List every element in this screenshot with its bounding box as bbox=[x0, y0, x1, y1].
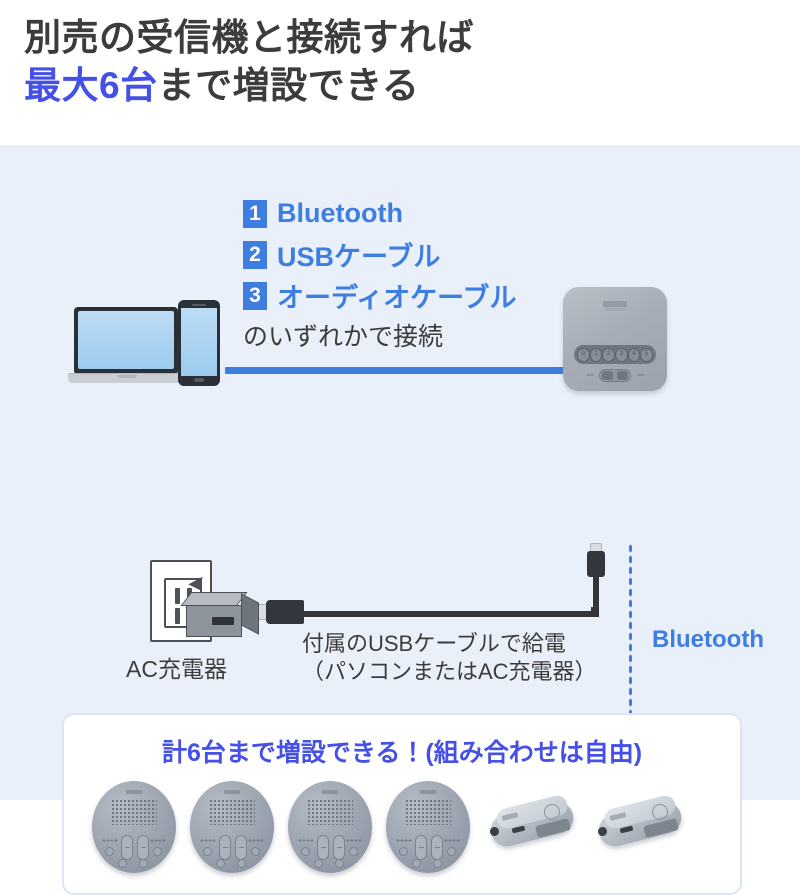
control-button-4 bbox=[335, 859, 344, 868]
speakerphone-logo-icon bbox=[126, 790, 142, 794]
speaker-grille-icon bbox=[111, 799, 157, 825]
control-button-1 bbox=[399, 847, 408, 856]
round-speakerphone-3 bbox=[288, 781, 372, 873]
led-dots-left bbox=[298, 839, 314, 842]
phone-home-button bbox=[194, 378, 204, 382]
led-dots-right bbox=[346, 839, 362, 842]
option-badge-1: 1 bbox=[243, 200, 267, 228]
control-button-1 bbox=[203, 847, 212, 856]
option-label-2: USBケーブル bbox=[277, 235, 440, 274]
title-line-1: 別売の受信機と接続すれば bbox=[24, 14, 784, 62]
laptop-notch bbox=[117, 375, 137, 378]
receiver-button-5: 5 bbox=[640, 348, 653, 362]
speaker-grille-icon bbox=[209, 799, 255, 825]
control-button-4 bbox=[237, 859, 246, 868]
clip-receiver-1 bbox=[486, 794, 578, 860]
round-speakerphone-1 bbox=[92, 781, 176, 873]
expansion-card-title: 計6台まで増設できる！(組み合わせは自由) bbox=[64, 733, 740, 769]
speakerphone-logo-icon bbox=[420, 790, 436, 794]
option-badge-2: 2 bbox=[243, 241, 267, 269]
control-button-2 bbox=[153, 847, 162, 856]
infographic-page: 別売の受信機と接続すれば 最大6台まで増設できる 1 Bluetooth 2 U… bbox=[0, 0, 800, 800]
control-button-3 bbox=[314, 859, 323, 868]
round-speakerphone-2 bbox=[190, 781, 274, 873]
receiver-body: 0 1 2 3 4 5 bbox=[563, 287, 667, 391]
phone-body bbox=[178, 300, 220, 386]
receiver-dash-right bbox=[637, 374, 644, 376]
control-button-1 bbox=[105, 847, 114, 856]
volume-down-button bbox=[235, 835, 247, 860]
ac-charger-label: AC充電器 bbox=[126, 650, 227, 684]
page-title: 別売の受信機と接続すれば 最大6台まで増設できる bbox=[24, 14, 784, 110]
laptop-icon bbox=[68, 307, 186, 389]
speakerphone-body bbox=[288, 781, 372, 873]
led-dots-right bbox=[150, 839, 166, 842]
expansion-device-row bbox=[78, 777, 726, 877]
led-dots-right bbox=[248, 839, 264, 842]
speaker-grille-icon bbox=[405, 799, 451, 825]
usb-c-shell bbox=[587, 551, 605, 577]
control-button-2 bbox=[251, 847, 260, 856]
title-line-2: 最大6台まで増設できる bbox=[24, 62, 784, 110]
option-label-1: Bluetooth bbox=[277, 198, 403, 229]
speakerphone-logo-icon bbox=[322, 790, 338, 794]
smartphone-icon bbox=[178, 300, 220, 386]
title-highlight: 最大6台 bbox=[24, 65, 158, 106]
receiver-dash-left bbox=[587, 374, 594, 376]
volume-up-button bbox=[219, 835, 231, 860]
led-dots-left bbox=[396, 839, 412, 842]
laptop-lid bbox=[74, 307, 178, 373]
clip-receiver-2 bbox=[594, 794, 686, 860]
receiver-button-strip: 0 1 2 3 4 5 bbox=[574, 345, 656, 364]
volume-up-button bbox=[121, 835, 133, 860]
ac-adapter-usb-port bbox=[212, 617, 234, 625]
control-button-4 bbox=[139, 859, 148, 868]
receiver-button-4: 4 bbox=[628, 348, 641, 362]
control-button-3 bbox=[216, 859, 225, 868]
diagram-panel: 1 Bluetooth 2 USBケーブル 3 オーディオケーブル のいずれかで… bbox=[0, 145, 800, 800]
connection-options-list: 1 Bluetooth 2 USBケーブル 3 オーディオケーブル bbox=[243, 195, 517, 318]
usb-cable-horizontal bbox=[300, 611, 597, 617]
power-caption-line-2: （パソコンまたはAC充電器） bbox=[302, 658, 597, 686]
speakerphone-body bbox=[386, 781, 470, 873]
speakerphone-body bbox=[190, 781, 274, 873]
brand-logo-sub-icon bbox=[605, 308, 625, 311]
expansion-card: 計6台まで増設できる！(組み合わせは自由) bbox=[62, 713, 742, 895]
power-caption-line-1: 付属のUSBケーブルで給電 bbox=[302, 630, 597, 658]
led-dots-left bbox=[102, 839, 118, 842]
control-button-2 bbox=[349, 847, 358, 856]
ac-adapter-side bbox=[241, 593, 259, 635]
connection-option-2: 2 USBケーブル bbox=[243, 236, 517, 273]
round-speakerphone-4 bbox=[386, 781, 470, 873]
receiver-button-2: 2 bbox=[602, 348, 615, 362]
control-button-3 bbox=[412, 859, 421, 868]
control-button-4 bbox=[433, 859, 442, 868]
control-button-3 bbox=[118, 859, 127, 868]
connection-footer-text: のいずれかで接続 bbox=[243, 317, 443, 353]
option-badge-3: 3 bbox=[243, 282, 267, 310]
volume-down-button bbox=[431, 835, 443, 860]
pair-button-right bbox=[617, 371, 628, 380]
option-label-3: オーディオケーブル bbox=[277, 276, 517, 315]
led-dots-right bbox=[444, 839, 460, 842]
speakerphone-body bbox=[92, 781, 176, 873]
connection-option-1: 1 Bluetooth bbox=[243, 195, 517, 232]
receiver-button-0: 0 bbox=[577, 348, 590, 362]
receiver-device: 0 1 2 3 4 5 bbox=[563, 287, 667, 391]
connection-line bbox=[225, 367, 570, 374]
receiver-pair-buttons bbox=[599, 369, 631, 382]
pair-button-left bbox=[602, 371, 613, 380]
outlet-slot-1 bbox=[175, 588, 180, 604]
title-rest: まで増設できる bbox=[158, 65, 420, 106]
receiver-button-3: 3 bbox=[615, 348, 628, 362]
volume-down-button bbox=[333, 835, 345, 860]
phone-screen bbox=[181, 308, 217, 376]
receiver-button-1: 1 bbox=[590, 348, 603, 362]
usb-c-connector-icon bbox=[587, 543, 605, 577]
ac-adapter-top bbox=[181, 592, 248, 606]
phone-earpiece bbox=[192, 304, 206, 306]
led-dots-left bbox=[200, 839, 216, 842]
outlet-slot-3 bbox=[175, 608, 180, 624]
bluetooth-label: Bluetooth bbox=[652, 626, 764, 654]
volume-down-button bbox=[137, 835, 149, 860]
brand-logo-icon bbox=[603, 301, 627, 307]
volume-up-button bbox=[415, 835, 427, 860]
connection-option-3: 3 オーディオケーブル bbox=[243, 277, 517, 314]
power-caption: 付属のUSBケーブルで給電 （パソコンまたはAC充電器） bbox=[302, 630, 597, 686]
control-button-1 bbox=[301, 847, 310, 856]
bluetooth-dotted-line bbox=[628, 543, 633, 713]
speaker-grille-icon bbox=[307, 799, 353, 825]
speakerphone-logo-icon bbox=[224, 790, 240, 794]
control-button-2 bbox=[447, 847, 456, 856]
ac-outlet-icon bbox=[150, 560, 285, 655]
volume-up-button bbox=[317, 835, 329, 860]
laptop-screen bbox=[78, 311, 174, 369]
